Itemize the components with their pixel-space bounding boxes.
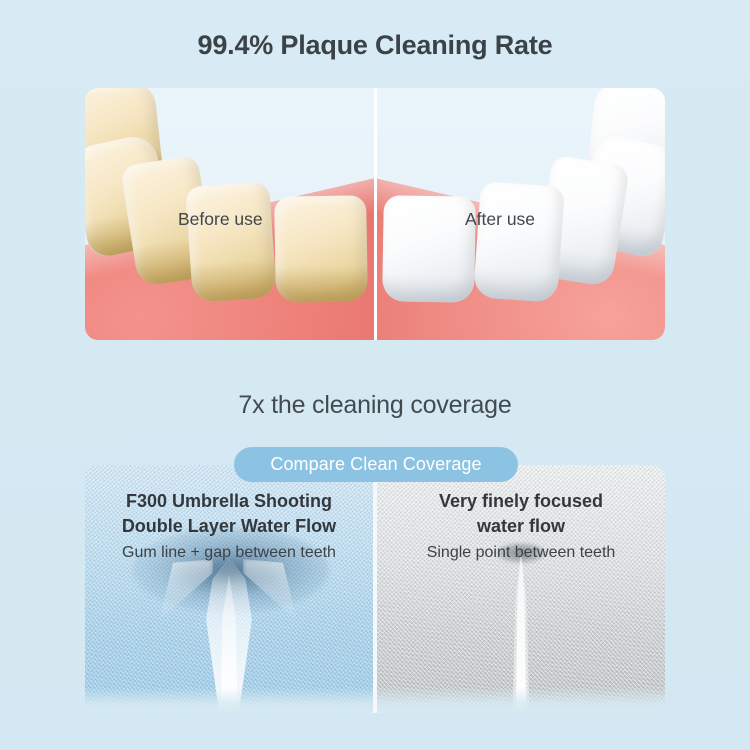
umbrella-flow-text: F300 Umbrella Shooting Double Layer Wate… xyxy=(85,489,373,562)
coverage-heading: 7x the cleaning coverage xyxy=(0,391,750,420)
focused-flow-image: Very finely focused water flow Single po… xyxy=(377,465,665,713)
right-panel-fade xyxy=(377,687,665,713)
compare-coverage-badge: Compare Clean Coverage xyxy=(234,447,518,482)
marketing-page: 99.4% Plaque Cleaning Rate Before use xyxy=(0,0,750,750)
tooth-after-4 xyxy=(473,181,565,303)
umbrella-flow-image: F300 Umbrella Shooting Double Layer Wate… xyxy=(85,465,373,713)
water-flow-panel: F300 Umbrella Shooting Double Layer Wate… xyxy=(85,465,665,713)
after-use-label: After use xyxy=(465,209,535,230)
before-use-image: Before use xyxy=(85,88,375,340)
before-after-divider xyxy=(374,88,377,340)
focused-flow-text: Very finely focused water flow Single po… xyxy=(377,489,665,562)
tooth-before-4 xyxy=(185,181,277,303)
focused-flow-subtitle: Single point between teeth xyxy=(377,544,665,562)
plaque-rate-heading: 99.4% Plaque Cleaning Rate xyxy=(0,30,750,61)
before-use-label: Before use xyxy=(178,209,263,230)
umbrella-flow-title: F300 Umbrella Shooting Double Layer Wate… xyxy=(85,489,373,539)
umbrella-flow-subtitle: Gum line + gap between teeth xyxy=(85,544,373,562)
before-after-panel: Before use After use xyxy=(85,88,665,340)
focused-flow-title: Very finely focused water flow xyxy=(377,489,665,539)
tooth-after-5 xyxy=(382,195,476,303)
left-panel-fade xyxy=(85,687,373,713)
tooth-before-5 xyxy=(274,195,368,303)
after-use-image: After use xyxy=(375,88,665,340)
